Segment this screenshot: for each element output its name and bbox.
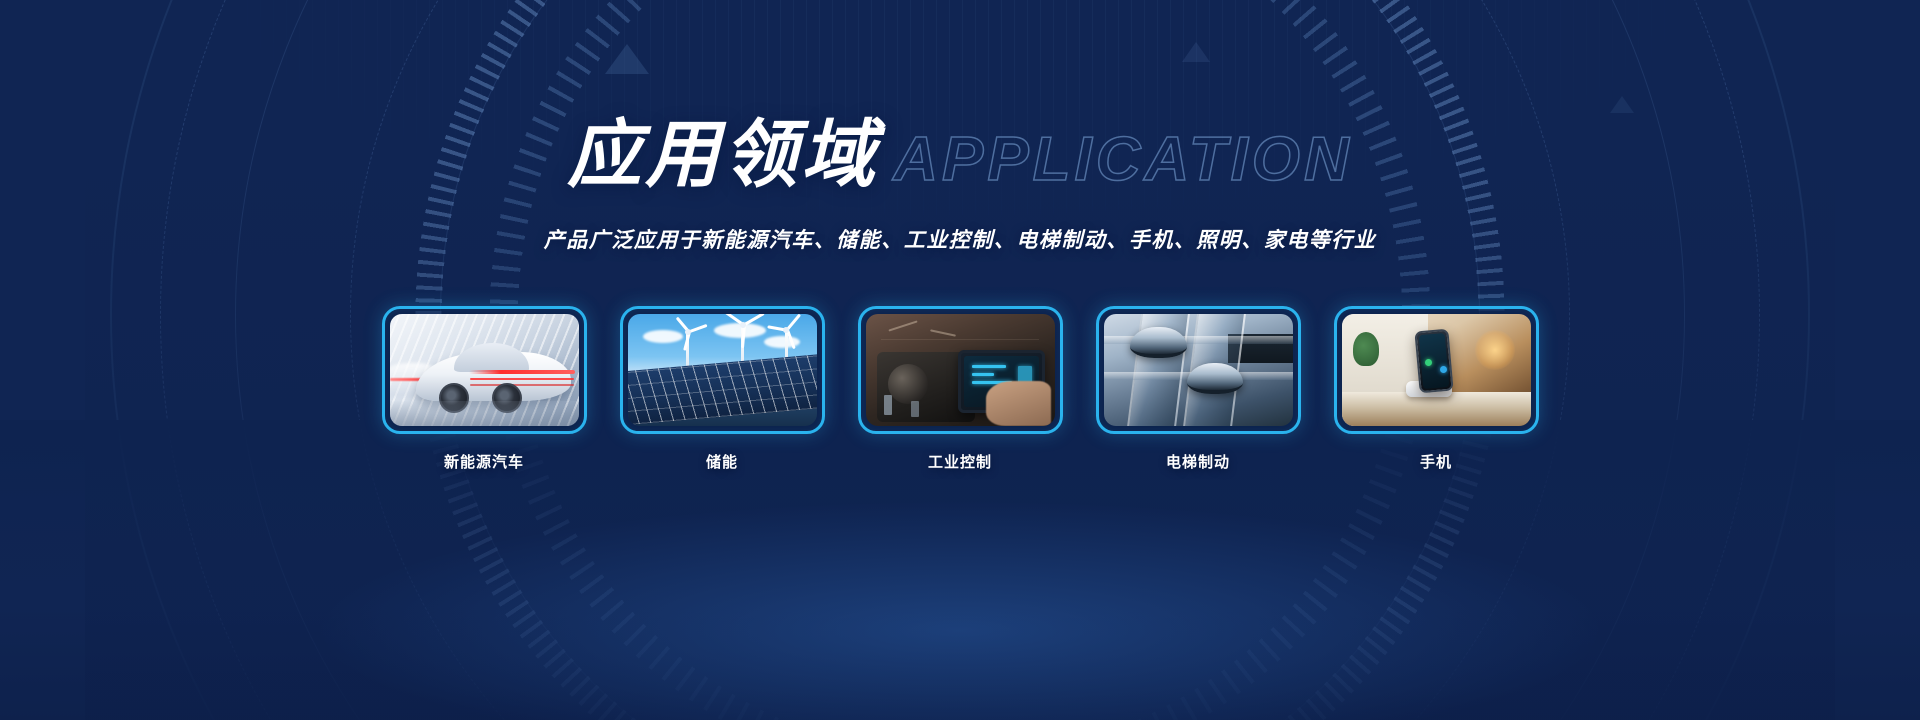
turbine-blade [689, 324, 708, 333]
title-row: 应用领域 APPLICATION [0, 118, 1920, 192]
industrial-control-image [866, 314, 1055, 426]
card-frame [858, 306, 1063, 434]
application-card-list: 新能源汽车 [0, 306, 1920, 472]
card-label: 手机 [1420, 451, 1452, 472]
machinery-detail-2 [911, 401, 919, 417]
screen-indicator-green [1425, 359, 1432, 366]
elevator-car-2 [1187, 363, 1244, 393]
page-subtitle: 产品广泛应用于新能源汽车、储能、工业控制、电梯制动、手机、照明、家电等行业 [0, 224, 1920, 254]
car-taillight-streak [469, 370, 575, 374]
elevator-image [1104, 314, 1293, 426]
screen-ui-bar-1 [972, 365, 1006, 368]
application-card-industrial-control[interactable]: 工业控制 [858, 306, 1063, 472]
smartphone-screen [1419, 333, 1450, 389]
card-label: 储能 [706, 451, 738, 472]
energy-storage-image [628, 314, 817, 426]
elevator-car-1 [1130, 327, 1187, 357]
banner-content: 应用领域 APPLICATION 产品广泛应用于新能源汽车、储能、工业控制、电梯… [0, 0, 1920, 720]
card-label: 电梯制动 [1166, 451, 1230, 472]
car-ground-reflection [390, 401, 579, 426]
card-label: 工业控制 [928, 451, 992, 472]
application-card-new-energy-vehicle[interactable]: 新能源汽车 [382, 306, 587, 472]
application-card-energy-storage[interactable]: 储能 [620, 306, 825, 472]
potted-plant [1353, 332, 1379, 366]
card-frame [1096, 306, 1301, 434]
card-frame [620, 306, 825, 434]
solar-panel-array [628, 354, 817, 426]
operator-hand [986, 381, 1050, 426]
warm-lamp-glow [1475, 330, 1515, 370]
new-energy-vehicle-image [390, 314, 579, 426]
application-card-elevator-brake[interactable]: 电梯制动 [1096, 306, 1301, 472]
smartphone-image [1342, 314, 1531, 426]
card-label: 新能源汽车 [444, 451, 524, 472]
machinery-cylinder [888, 364, 928, 404]
page-title-cn: 应用领域 [567, 118, 879, 192]
turbine-blade [743, 314, 764, 326]
screen-ui-bar-2 [972, 373, 994, 376]
card-frame [1334, 306, 1539, 434]
card-frame [382, 306, 587, 434]
page-title-en: APPLICATION [893, 129, 1353, 191]
desk-surface [1342, 392, 1531, 426]
application-banner: 应用领域 APPLICATION 产品广泛应用于新能源汽车、储能、工业控制、电梯… [0, 0, 1920, 720]
turbine-hub [783, 327, 789, 333]
turbine-hub [685, 329, 691, 335]
application-card-smartphone[interactable]: 手机 [1334, 306, 1539, 472]
turbine-hub [740, 322, 746, 328]
machinery-detail-1 [884, 395, 892, 415]
smartphone-device [1414, 329, 1453, 394]
